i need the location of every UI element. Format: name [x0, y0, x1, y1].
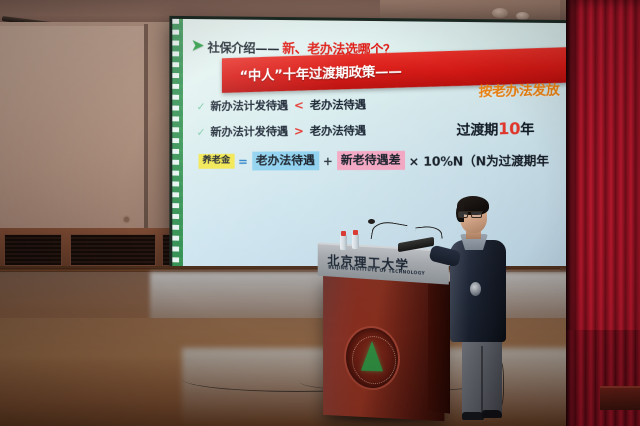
bullet-right-text: 老办法待遇: [310, 122, 366, 138]
vent-grille-icon: [4, 234, 62, 266]
bullet-right-text: 老办法待遇: [310, 96, 366, 113]
bullet-operator: <: [293, 98, 305, 112]
curtain-shadow-edge: [566, 0, 576, 426]
headline-black-text: 社保介绍——: [208, 37, 280, 57]
formula-equals: =: [238, 154, 248, 168]
left-wall-panel: [0, 26, 146, 248]
transition-suffix: 年: [520, 122, 534, 138]
formula-term-old-method: 老办法待遇: [252, 152, 319, 170]
orange-note-text: 按老办法发放: [479, 78, 560, 100]
projection-screen-frame: ➤ 社保介绍—— 新、老办法选哪个？ “中人”十年过渡期政策—— “保低限高 ”…: [169, 16, 580, 282]
glasses-bridge-icon: [459, 211, 483, 218]
auditorium-scene: ➤ 社保介绍—— 新、老办法选哪个？ “中人”十年过渡期政策—— “保低限高 ”…: [0, 0, 640, 426]
presenter-person: [444, 196, 518, 424]
stage-curtain-lower: [566, 330, 640, 426]
formula-tail: × 10%N（N为过渡期年: [409, 150, 549, 170]
vent-grille-icon: [70, 234, 156, 266]
slide-left-border-decoration: [172, 19, 183, 268]
formula-term-pension: 养老金: [199, 154, 235, 169]
formula-term-difference: 新老待遇差: [337, 151, 405, 170]
bullet-left-text: 新办法计发待遇: [210, 97, 288, 114]
transition-period-note: 过渡期10年: [456, 119, 534, 140]
bullet-operator: >: [293, 124, 305, 138]
presenter-shoe: [462, 412, 484, 420]
check-icon: ✓: [197, 100, 206, 113]
slide-bullet-row: ✓ 新办法计发待遇 > 老办法待遇: [197, 122, 366, 139]
microphone-head-icon: [368, 219, 375, 224]
water-bottle-icon: [340, 235, 347, 250]
formula-plus: +: [323, 154, 333, 168]
wall-seam: [144, 24, 148, 252]
bullet-left-text: 新办法计发待遇: [210, 123, 288, 140]
check-icon: ✓: [197, 126, 206, 139]
presenter-badge-icon: [470, 282, 481, 296]
presenter-shoe: [482, 410, 502, 418]
red-banner-text: “中人”十年过渡期政策——: [240, 60, 402, 85]
water-bottle-icon: [352, 234, 359, 249]
pine-tree-crest-emblem-icon: [344, 325, 400, 391]
transition-prefix: 过渡期: [456, 122, 498, 139]
slide-bullet-row: ✓ 新办法计发待遇 < 老办法待遇: [197, 96, 366, 114]
ceiling-speaker-icon: [492, 8, 508, 18]
presenter-leg-split: [481, 346, 483, 416]
wall-screw-icon: [124, 217, 129, 222]
green-check-arrow-icon: ➤: [191, 37, 205, 54]
pension-formula: 养老金 = 老办法待遇 + 新老待遇差 × 10%N（N为过渡期年: [199, 150, 549, 171]
transition-number: 10: [498, 119, 520, 138]
stage-side-box: [600, 386, 640, 410]
